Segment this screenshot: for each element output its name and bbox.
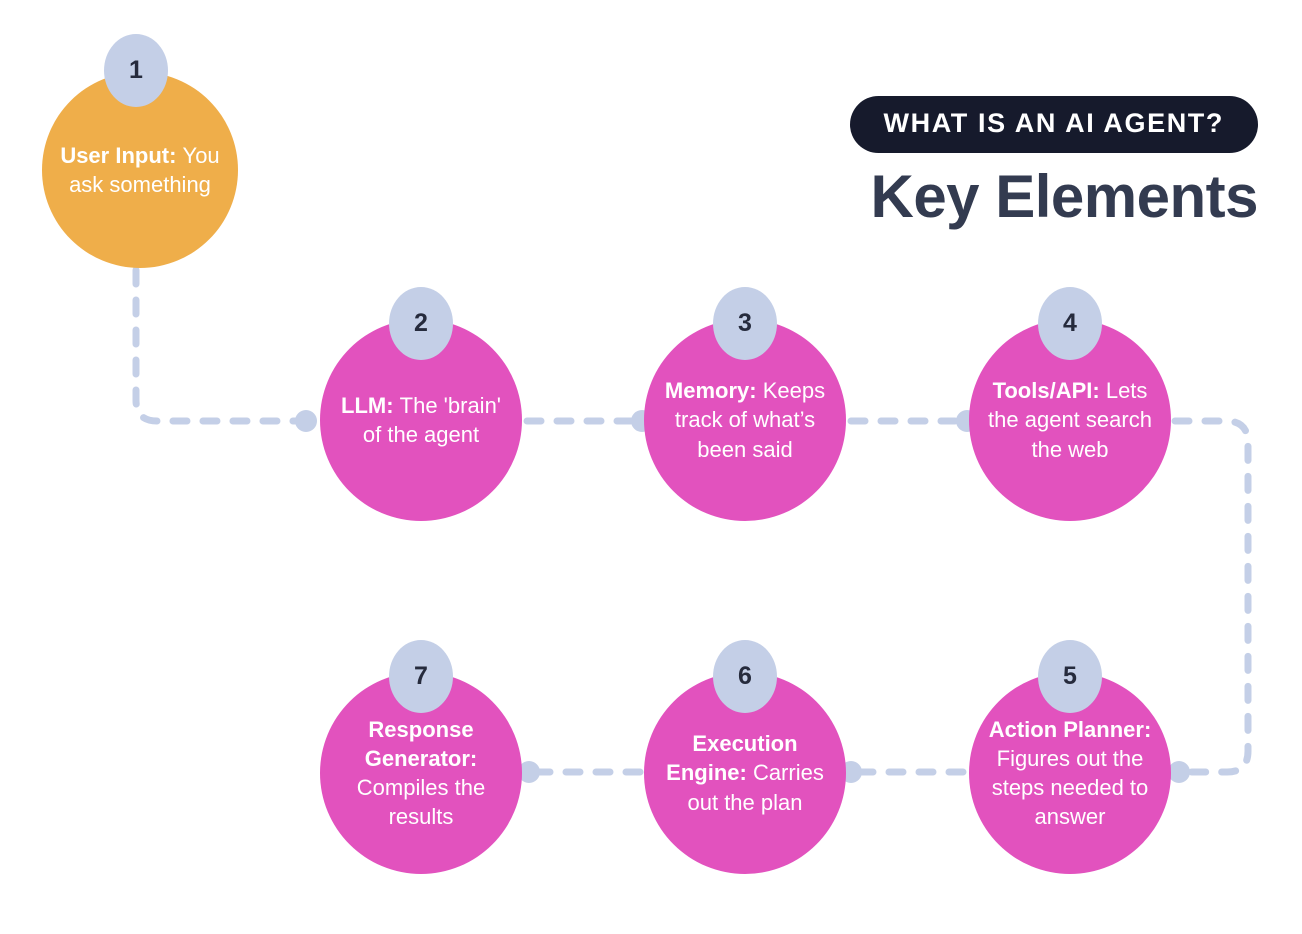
header-pill-label: WHAT IS AN AI AGENT? xyxy=(850,96,1258,153)
node-title-5: Action Planner: xyxy=(989,717,1152,742)
header-block: WHAT IS AN AI AGENT? Key Elements xyxy=(700,96,1258,228)
node-badge-5: 5 xyxy=(1038,640,1102,713)
node-badge-number-2: 2 xyxy=(414,309,428,338)
connector-endpoint-dot-5 xyxy=(1168,761,1190,783)
node-title-7: Response Generator: xyxy=(365,717,477,771)
node-badge-2: 2 xyxy=(389,287,453,360)
infographic-canvas: WHAT IS AN AI AGENT? Key Elements 1 User… xyxy=(0,0,1302,934)
connector-4-to-5 xyxy=(1175,421,1248,772)
connector-1-to-2 xyxy=(136,270,300,421)
node-badge-number-6: 6 xyxy=(738,662,752,691)
node-badge-number-7: 7 xyxy=(414,662,428,691)
node-text-4: Tools/API: Lets the agent search the web xyxy=(969,376,1171,464)
node-text-2: LLM: The 'brain' of the agent xyxy=(320,391,522,450)
page-title: Key Elements xyxy=(700,165,1258,228)
node-badge-number-1: 1 xyxy=(129,56,143,85)
node-badge-number-5: 5 xyxy=(1063,662,1077,691)
node-badge-6: 6 xyxy=(713,640,777,713)
node-badge-3: 3 xyxy=(713,287,777,360)
node-badge-number-4: 4 xyxy=(1063,309,1077,338)
node-title-3: Memory: xyxy=(665,378,763,403)
node-text-3: Memory: Keeps track of what’s been said xyxy=(644,376,846,464)
node-text-5: Action Planner: Figures out the steps ne… xyxy=(969,715,1171,832)
node-badge-1: 1 xyxy=(104,34,168,107)
node-desc-5: Figures out the steps needed to answer xyxy=(992,746,1149,830)
node-badge-7: 7 xyxy=(389,640,453,713)
connector-endpoint-dot-2 xyxy=(295,410,317,432)
node-title-2: LLM: xyxy=(341,393,400,418)
node-title-1: User Input: xyxy=(60,143,182,168)
node-text-7: Response Generator: Compiles the results xyxy=(320,715,522,832)
node-badge-4: 4 xyxy=(1038,287,1102,360)
node-text-1: User Input: You ask something xyxy=(42,141,238,200)
node-text-6: Execution Engine: Carries out the plan xyxy=(644,729,846,817)
node-badge-number-3: 3 xyxy=(738,309,752,338)
node-desc-7: Compiles the results xyxy=(357,775,485,829)
node-title-4: Tools/API: xyxy=(993,378,1106,403)
